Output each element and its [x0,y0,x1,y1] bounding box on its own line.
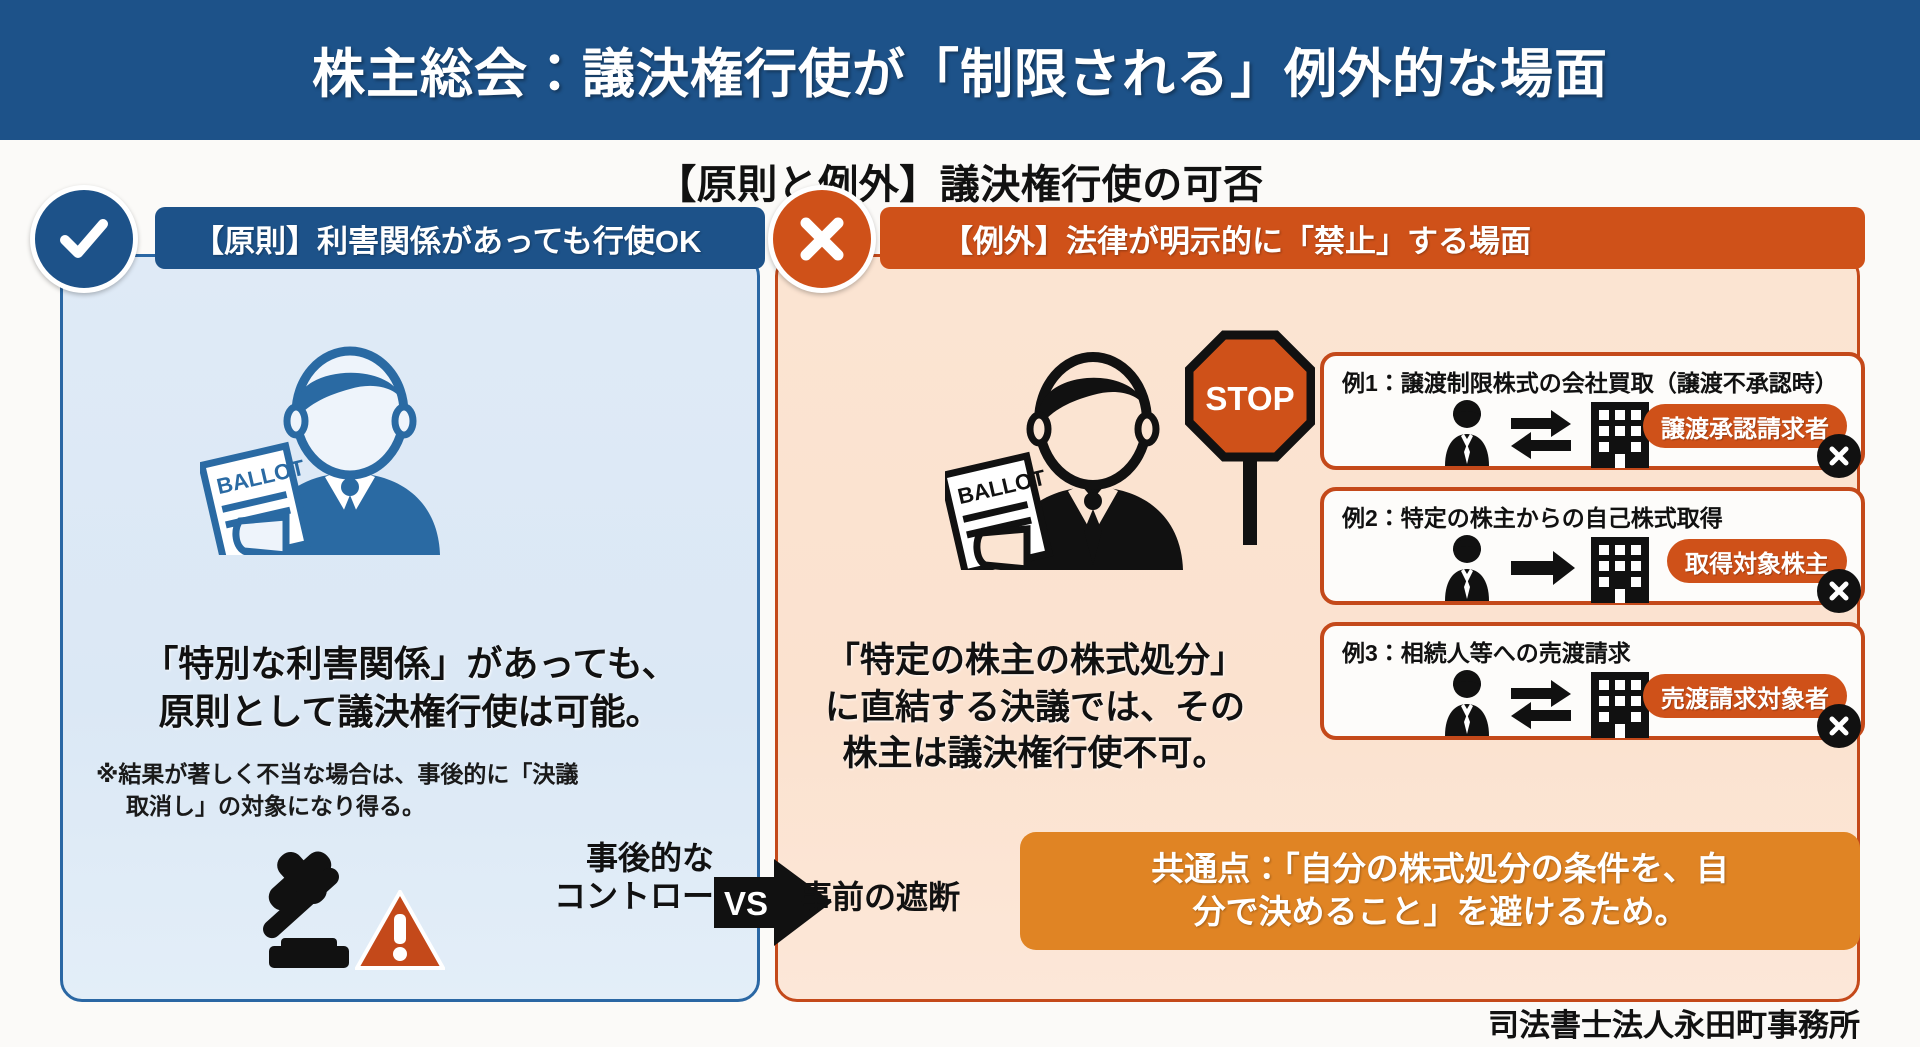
infographic-root: 株主総会：議決権行使が「制限される」例外的な場面 【原則と例外】議決権行使の可否… [0,0,1920,1047]
example-badge: 譲渡承認請求者 [1643,404,1847,448]
exception-lead-line1: 「特定の株主の株式処分」 [825,641,1245,680]
summary-line2: 分で決めること」を避けるため。 [1193,893,1688,930]
example-card: 例1：譲渡制限株式の会社買取（譲渡不承認時） [1320,352,1865,470]
example-badge: 取得対象株主 [1667,539,1847,583]
check-circle-icon [30,185,138,293]
example-badge-label: 売渡請求対象者 [1661,679,1829,714]
example-title: 例2：特定の株主からの自己株式取得 [1342,499,1723,533]
svg-text:VS: VS [724,885,768,922]
principle-band: 【原則】利害関係があっても行使OK [155,207,765,269]
principle-lead-line2: 原則として議決権行使は可能。 [159,691,662,732]
principle-note-line2: 取消し」の対象になり得る。 [96,790,726,822]
principle-band-label: 【原則】利害関係があっても行使OK [193,216,701,261]
section-subtitle: 【原則と例外】議決権行使の可否 [0,152,1920,210]
page-header: 株主総会：議決権行使が「制限される」例外的な場面 [0,0,1920,140]
x-circle-icon [768,185,876,293]
person-arrow-building-icon [1439,531,1669,603]
x-mark-icon [1817,569,1861,613]
warning-triangle-icon [355,890,445,972]
summary-box: 共通点：「自分の株式処分の条件を、自 分で決めること」を避けるため。 [1020,832,1860,950]
exception-band-label: 【例外】法律が明示的に「禁止」する場面 [942,216,1531,261]
exception-lead-text: 「特定の株主の株式処分」 に直結する決議では、その 株主は議決権行使不可。 [785,638,1285,778]
page-title: 株主総会：議決権行使が「制限される」例外的な場面 [312,32,1608,108]
example-card: 例3：相続人等への売渡請求 売渡請求対象者 [1320,622,1865,740]
ex-post-control-line1: 事後的な [586,840,714,876]
x-mark-icon [1817,704,1861,748]
person-with-ballot-icon: BALLOT [200,345,500,555]
exception-lead-line3: 株主は議決権行使不可。 [842,734,1227,773]
example-title: 例1：譲渡制限株式の会社買取（譲渡不承認時） [1342,364,1838,398]
x-mark-icon [1817,434,1861,478]
example-badge: 売渡請求対象者 [1643,674,1847,718]
example-badge-label: 取得対象株主 [1685,544,1829,579]
example-title: 例3：相続人等への売渡請求 [1342,634,1631,668]
principle-note-line1: ※結果が著しく不当な場合は、事後的に「決議 [96,761,578,787]
person-exchange-building-icon [1439,666,1669,738]
principle-lead-text: 「特別な利害関係」があっても、 原則として議決権行使は可能。 [80,640,740,735]
footer-credit: 司法書士法人永田町事務所 [1488,1000,1860,1045]
exception-band: 【例外】法律が明示的に「禁止」する場面 [880,207,1865,269]
summary-line1: 共通点：「自分の株式処分の条件を、自 [1151,850,1729,887]
example-badge-label: 譲渡承認請求者 [1661,409,1829,444]
principle-lead-line1: 「特別な利害関係」があっても、 [142,643,677,684]
person-exchange-building-icon [1439,396,1669,468]
example-card: 例2：特定の株主からの自己株式取得 取得対象株主 [1320,487,1865,605]
stop-sign-icon: STOP [1185,330,1315,545]
summary-text: 共通点：「自分の株式処分の条件を、自 分で決めること」を避けるため。 [1131,848,1749,934]
exception-lead-line2: に直結する決議では、その [825,688,1245,727]
svg-text:STOP: STOP [1205,380,1294,417]
principle-note-text: ※結果が著しく不当な場合は、事後的に「決議 取消し」の対象になり得る。 [96,758,726,822]
